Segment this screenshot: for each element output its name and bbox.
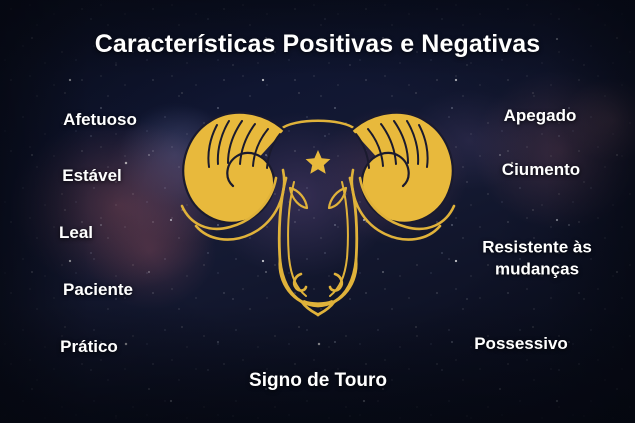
trait-negative-0: Apegado — [504, 105, 577, 127]
trait-positive-1: Estável — [62, 165, 122, 187]
trait-positive-3: Paciente — [63, 279, 133, 301]
page-title: Características Positivas e Negativas — [0, 30, 635, 59]
trait-negative-3: Possessivo — [474, 333, 568, 355]
trait-negative-2: Resistente às mudanças — [447, 236, 627, 280]
ram-head-illustration — [168, 82, 468, 322]
trait-positive-0: Afetuoso — [63, 109, 137, 131]
right-horn — [352, 113, 454, 240]
zodiac-infographic-slide: Características Positivas e Negativas Af… — [0, 0, 635, 423]
trait-positive-2: Leal — [59, 222, 93, 244]
mouth-inner — [304, 301, 332, 303]
star-icon — [306, 150, 331, 174]
trait-negative-1: Ciumento — [502, 159, 580, 181]
left-horn — [182, 113, 284, 240]
trait-positive-4: Prático — [60, 336, 118, 358]
forehead-arc — [281, 121, 355, 129]
sign-caption: Signo de Touro — [249, 370, 387, 392]
